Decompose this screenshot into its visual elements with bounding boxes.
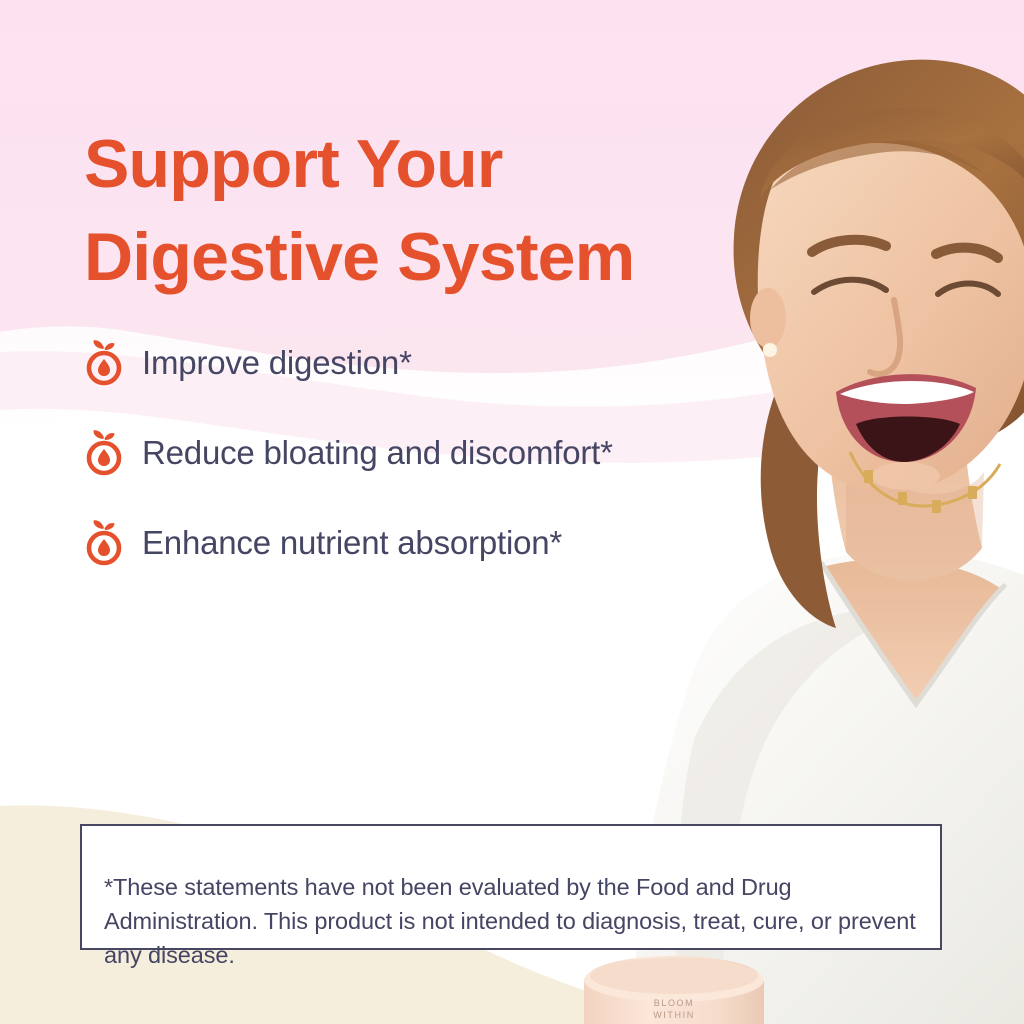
list-item: Reduce bloating and discomfort* [84,408,784,498]
benefit-label: Reduce bloating and discomfort* [142,434,613,472]
advertisement-canvas: BLOOM WITHIN Support Your Digestive Syst… [0,0,1024,1024]
list-item: Improve digestion* [84,318,784,408]
benefit-label: Enhance nutrient absorption* [142,524,562,562]
disclaimer-text: *These statements have not been evaluate… [104,870,918,972]
peach-droplet-icon [84,339,124,387]
benefit-list: Improve digestion* Reduce bloating and d… [84,318,784,588]
peach-droplet-icon [84,519,124,567]
list-item: Enhance nutrient absorption* [84,498,784,588]
benefit-label: Improve digestion* [142,344,412,382]
page-title: Support Your Digestive System [84,118,744,306]
disclaimer-box: *These statements have not been evaluate… [80,824,942,950]
peach-droplet-icon [84,429,124,477]
